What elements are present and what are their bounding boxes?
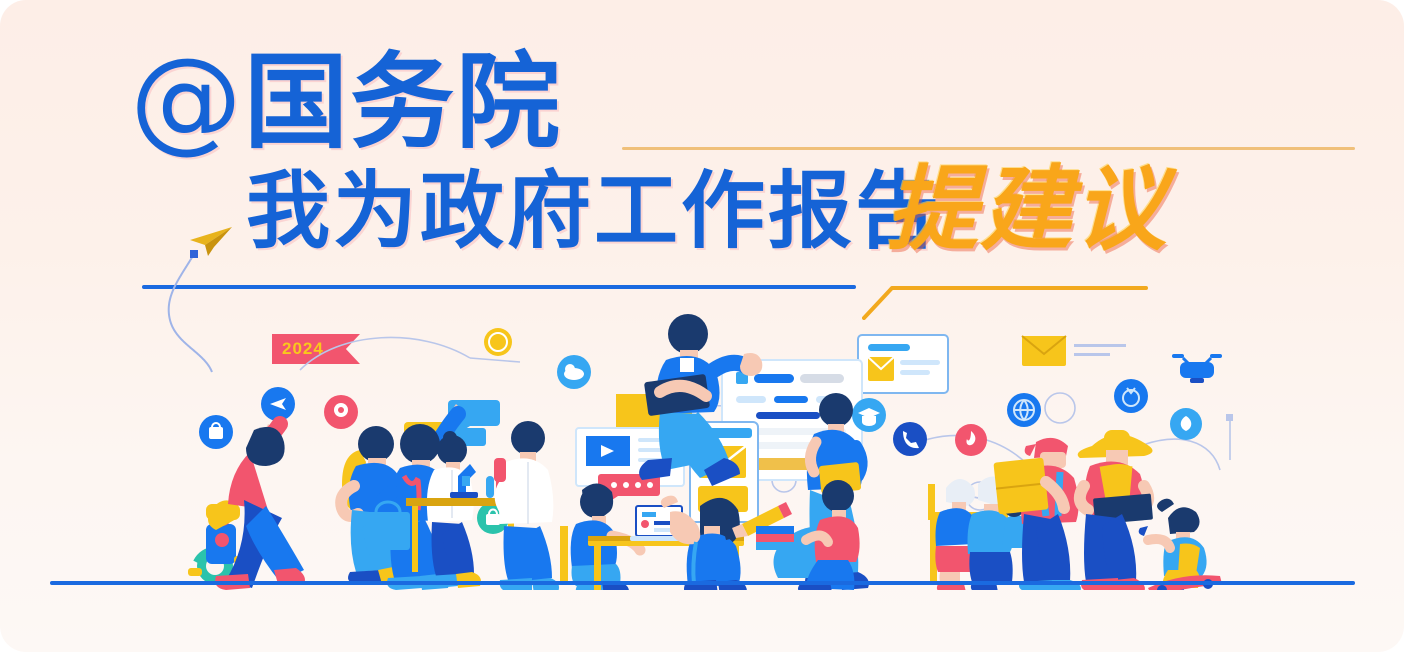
person-lab-scientist-male bbox=[494, 421, 559, 590]
page-title-line2: 我为政府工作报告 bbox=[246, 168, 942, 254]
page-title-line3-highlight: 提建议 bbox=[886, 163, 1168, 255]
icon-bubble-coin bbox=[484, 328, 512, 356]
icon-bubble-graduation bbox=[852, 398, 886, 432]
icon-bubble-leaf bbox=[1170, 408, 1202, 440]
drone-icon bbox=[1172, 354, 1222, 383]
person-farmer-with-laptop bbox=[1078, 430, 1153, 590]
icon-bubble-cloud bbox=[557, 355, 591, 389]
icon-bubble-location bbox=[324, 395, 358, 429]
icon-bubble-phone bbox=[893, 422, 927, 456]
icon-bubble-airplane bbox=[261, 387, 295, 421]
page-title-line1: @国务院 bbox=[130, 48, 562, 154]
envelope-icon bbox=[1022, 336, 1126, 366]
gold-underline-divider bbox=[622, 147, 1355, 150]
page-title-line1-text: 国务院 bbox=[244, 40, 562, 163]
icon-bubble-fire bbox=[955, 424, 987, 456]
illustration-scene bbox=[0, 300, 1404, 590]
ground-line bbox=[50, 581, 1355, 585]
at-symbol-icon: @ bbox=[130, 35, 244, 165]
headline-block: @国务院 我为政府工作报告 提建议 2024 bbox=[0, 0, 1404, 300]
icon-bubble-globe bbox=[1007, 393, 1041, 427]
icon-bubble-bag bbox=[199, 415, 233, 449]
promo-banner: @国务院 我为政府工作报告 提建议 2024 bbox=[0, 0, 1404, 652]
mail-card bbox=[858, 335, 948, 393]
icon-bubble-medal bbox=[1114, 379, 1148, 413]
